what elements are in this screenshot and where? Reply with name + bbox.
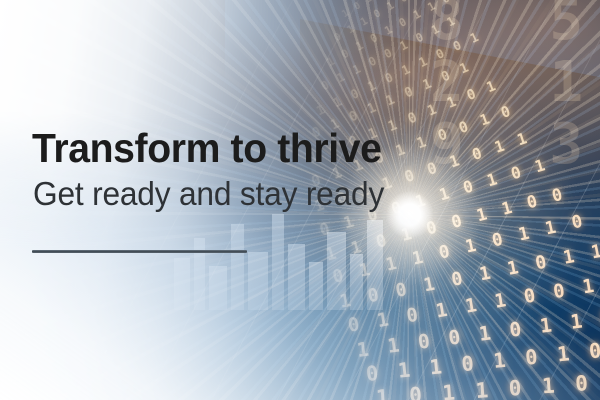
banner-divider (32, 250, 247, 253)
banner-text-block: Transform to thrive Get ready and stay r… (32, 126, 392, 253)
hero-banner: 8 5 2 1 9 3 1 0 1 1 0 1 1 01 0 1 0 1 1 0… (0, 0, 600, 400)
banner-headline: Transform to thrive (32, 126, 376, 170)
banner-subheadline: Get ready and stay ready (33, 176, 378, 212)
